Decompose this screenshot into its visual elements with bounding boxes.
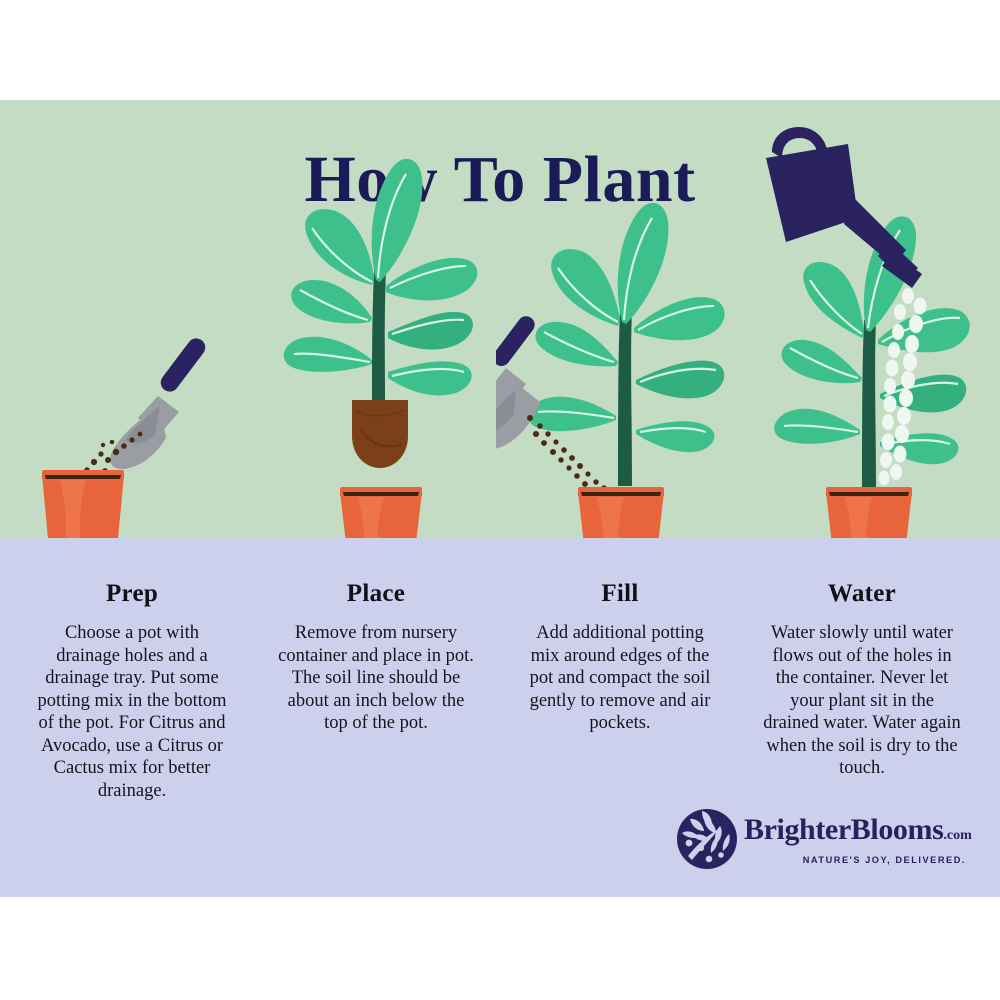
logo-brand-secondary: Blooms [851,813,944,846]
watering-can-icon [766,127,922,288]
step-column-water: Water Water slowly until water flows out… [742,580,982,780]
step-column-place: Place Remove from nursery container and … [256,580,496,735]
step-body-water: Water slowly until water flows out of th… [762,622,962,780]
plant-leaves [774,216,969,488]
plant-pot [340,487,422,538]
trowel-icon [496,313,540,449]
plant-pot [578,487,664,538]
logo-tagline: NATURE'S JOY, DELIVERED. [744,855,966,865]
logo-brand-name: BrighterBlooms.com [744,814,966,852]
step-body-prep: Choose a pot with drainage holes and a d… [34,622,230,802]
step-column-prep: Prep Choose a pot with drainage holes an… [12,580,252,802]
logo-circle-leaf-icon [676,808,738,870]
illustration-step-1 [8,100,258,538]
infographic-page: How To Plant [0,0,1000,1000]
step-column-fill: Fill Add additional potting mix around e… [500,580,740,735]
trowel-icon [110,335,209,469]
step-heading-fill: Fill [500,580,740,608]
step-heading-prep: Prep [12,580,252,608]
root-ball [352,400,408,468]
step-heading-water: Water [742,580,982,608]
illustration-step-2 [252,100,502,538]
step-heading-place: Place [256,580,496,608]
brand-logo: BrighterBlooms.com NATURE'S JOY, DELIVER… [676,806,966,878]
logo-brand-suffix: .com [943,828,971,843]
plant-pot [826,487,912,538]
logo-wordmark: BrighterBlooms.com NATURE'S JOY, DELIVER… [744,814,966,865]
plant-pot [42,470,124,538]
step-body-fill: Add additional potting mix around edges … [522,622,718,735]
illustration-step-3 [496,100,746,538]
step-body-place: Remove from nursery container and place … [278,622,474,735]
illustration-step-4 [740,100,990,538]
plant-leaves [284,159,478,400]
logo-brand-primary: Brighter [744,813,851,846]
